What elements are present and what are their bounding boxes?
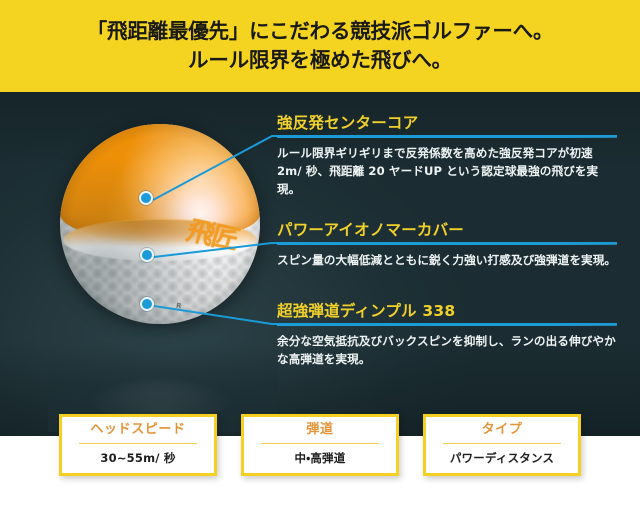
header-line-1: 「飛距離最優先」にこだわる競技派ゴルファーへ。 (87, 17, 554, 46)
callout-cover-title: パワーアイオノマーカバー (277, 221, 617, 240)
golf-ball-illustration: 飛匠 R (48, 116, 278, 416)
callout-dimple-body: 余分な空気抵抗及びバックスピンを抑制し、ランの出る伸びやかな高弾道を実現。 (277, 332, 617, 369)
spec-trajectory: 弾道 中・高弾道 (241, 414, 399, 476)
callout-core-body: ルール限界ギリギリまで反発係数を高めた強反発コアが初速 2m/ 秒、飛距離 20… (277, 144, 617, 199)
marker-dot-dimple[interactable] (140, 297, 154, 311)
marker-dot-core[interactable] (139, 191, 153, 205)
callout-cover-rule (277, 243, 617, 245)
spec-head-speed: ヘッドスピード 30~55m/ 秒 (59, 414, 217, 476)
header-line-2: ルール限界を極めた飛びへ。 (188, 46, 452, 75)
callout-cover-body: スピン量の大幅低減とともに鋭く力強い打感及び強弾道を実現。 (277, 251, 617, 269)
spec-row: ヘッドスピード 30~55m/ 秒 弾道 中・高弾道 タイプ パワーディスタンス (0, 414, 640, 486)
golf-ball: 飛匠 R (60, 124, 260, 324)
marker-dot-cover[interactable] (140, 248, 154, 262)
spec-trajectory-label: 弾道 (306, 423, 333, 438)
callout-core: 強反発センターコア ルール限界ギリギリまで反発係数を高めた強反発コアが初速 2m… (277, 114, 617, 199)
spec-type: タイプ パワーディスタンス (423, 414, 581, 476)
callout-core-title: 強反発センターコア (277, 114, 617, 133)
spec-type-label: タイプ (482, 423, 523, 438)
header-band: 「飛距離最優先」にこだわる競技派ゴルファーへ。 ルール限界を極めた飛びへ。 (0, 0, 640, 92)
spec-type-value: パワーディスタンス (450, 450, 554, 466)
spec-head-speed-label: ヘッドスピード (90, 423, 185, 438)
callout-core-rule (277, 136, 617, 138)
spec-divider (443, 443, 561, 444)
spec-trajectory-value: 中・高弾道 (295, 450, 346, 466)
callout-dimple: 超強弾道ディンプル 338 余分な空気抵抗及びバックスピンを抑制し、ランの出る伸… (277, 302, 617, 368)
promo-banner: 「飛距離最優先」にこだわる競技派ゴルファーへ。 ルール限界を極めた飛びへ。 飛匠… (0, 0, 640, 506)
callout-dimple-rule (277, 324, 617, 326)
spec-divider (261, 443, 379, 444)
callout-cover: パワーアイオノマーカバー スピン量の大幅低減とともに鋭く力強い打感及び強弾道を実… (277, 221, 617, 269)
spec-head-speed-value: 30~55m/ 秒 (100, 450, 175, 466)
feature-panel: 飛匠 R 強反発センターコア ルール限界ギリギリまで反発係数を高めた強反発コアが… (0, 92, 640, 436)
spec-divider (79, 443, 197, 444)
callout-dimple-title: 超強弾道ディンプル 338 (277, 302, 617, 321)
